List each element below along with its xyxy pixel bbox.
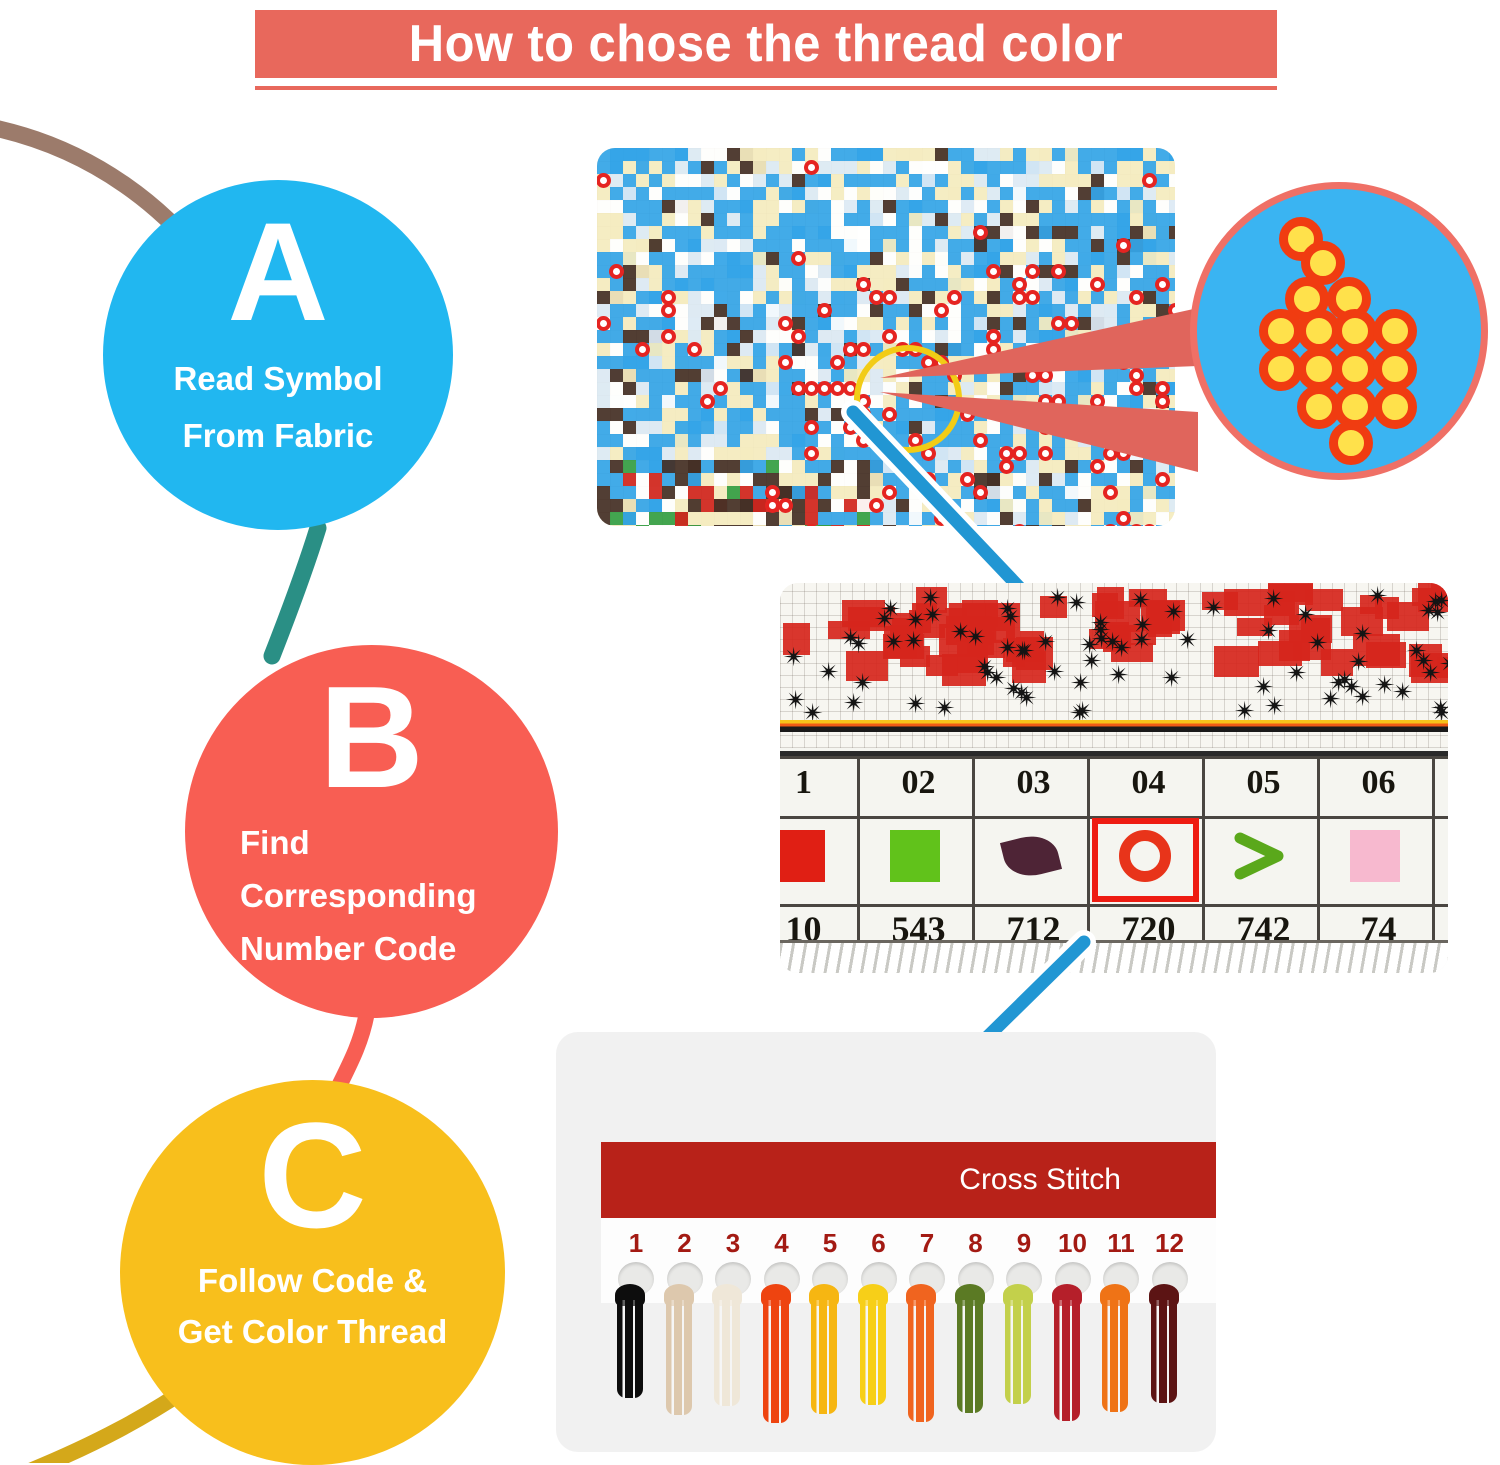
thread-card-banner-label: Cross Stitch [959,1163,1121,1197]
page-title: How to chose the thread color [409,14,1123,74]
step-desc-b-line3: Number Code [240,930,456,969]
step-circle-a[interactable]: A Read Symbol From Fabric [103,180,453,530]
step-desc-c-line2: Get Color Thread [178,1313,448,1352]
chart-code-grid: 110025430371204720057420674 [780,756,1448,946]
page-title-block: How to chose the thread color [255,10,1277,90]
step-letter-a: A [227,202,328,342]
step-circle-c[interactable]: C Follow Code & Get Color Thread [120,1080,505,1465]
step-circle-b[interactable]: B Find Corresponding Number Code [185,645,558,1018]
thread-colour-card: Cross Stitch 123456789101112 [556,1032,1216,1452]
chart-colour-stripe [780,720,1448,732]
step-desc-a-line2: From Fabric [183,417,374,456]
thread-card-banner: Cross Stitch [601,1142,1216,1218]
step-desc-c-line1: Follow Code & [198,1262,427,1301]
step-letter-b: B [319,665,424,810]
colour-code-chart-panel: ✴✴✴✴✴✴✴✴✴✴✴✴✴✴✴✴✴✴✴✴✴✴✴✴✴✴✴✴✴✴✴✴✴✴✴✴✴✴✴✴… [780,583,1448,973]
magnifier-detail-circle [1190,182,1488,480]
step-desc-b-line1: Find [240,824,310,863]
title-underline [255,86,1277,90]
step-desc-a-line1: Read Symbol [173,360,382,399]
title-banner: How to chose the thread color [255,10,1277,78]
step-desc-b-line2: Corresponding [240,877,477,916]
step-letter-c: C [258,1100,366,1250]
chart-star-pattern-area: ✴✴✴✴✴✴✴✴✴✴✴✴✴✴✴✴✴✴✴✴✴✴✴✴✴✴✴✴✴✴✴✴✴✴✴✴✴✴✴✴… [780,583,1448,748]
